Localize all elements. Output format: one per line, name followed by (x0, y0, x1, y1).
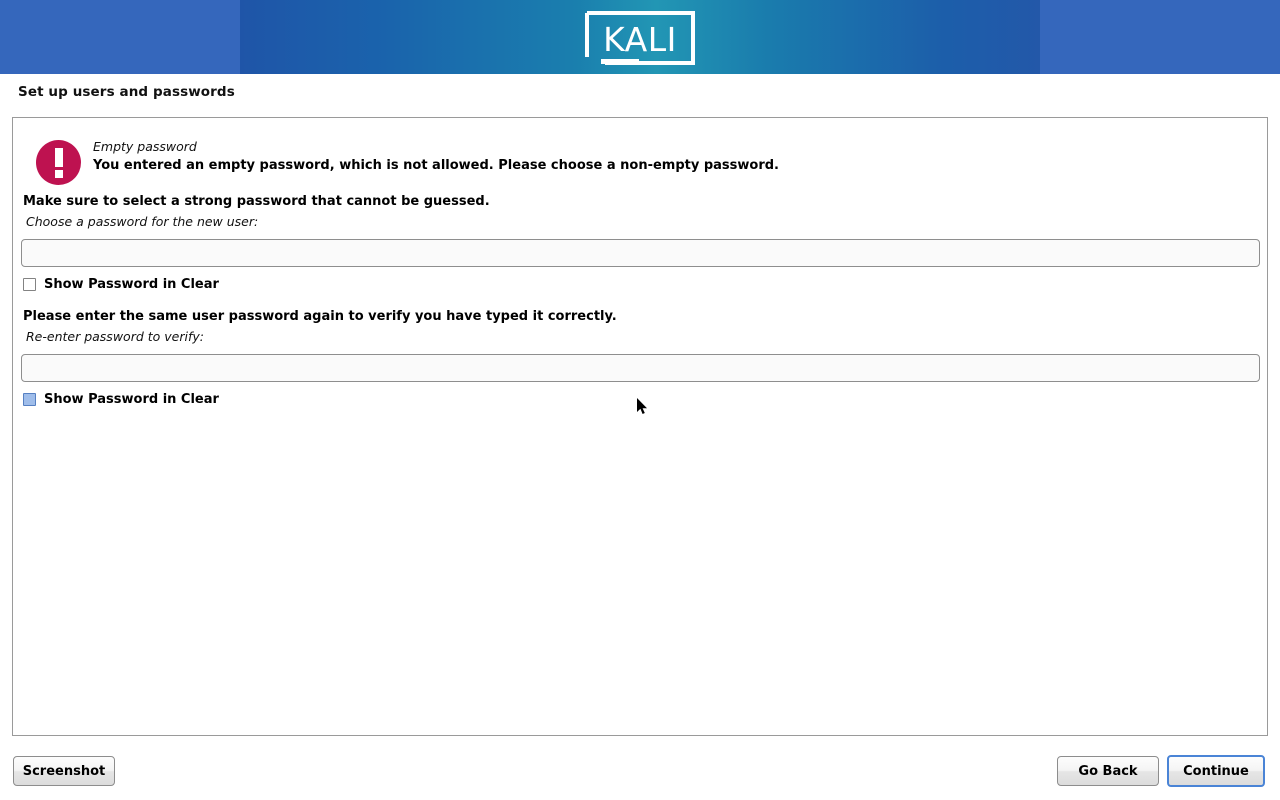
exclamation-dot (55, 170, 63, 178)
screenshot-button[interactable]: Screenshot (13, 756, 115, 786)
error-title: Empty password (93, 139, 197, 154)
kali-logo: KALI (583, 9, 697, 67)
checkbox-box[interactable] (23, 393, 36, 406)
show-password-in-clear-checkbox-1[interactable]: Show Password in Clear (23, 277, 219, 292)
go-back-button[interactable]: Go Back (1057, 756, 1159, 786)
error-message: You entered an empty password, which is … (93, 158, 779, 173)
installer-main-panel: Empty password You entered an empty pass… (12, 117, 1268, 736)
verify-section-heading: Please enter the same user password agai… (23, 309, 617, 324)
kali-banner: KALI (0, 0, 1280, 74)
password-section-heading: Make sure to select a strong password th… (23, 194, 490, 209)
error-notice: Empty password You entered an empty pass… (24, 130, 1254, 190)
password-input[interactable] (21, 239, 1260, 267)
error-exclamation-icon (36, 140, 81, 185)
checkbox-box[interactable] (23, 278, 36, 291)
password-field-label: Choose a password for the new user: (26, 214, 258, 229)
svg-text:KALI: KALI (603, 20, 677, 59)
verify-field-label: Re-enter password to verify: (26, 329, 204, 344)
checkbox-label: Show Password in Clear (44, 392, 219, 407)
show-password-in-clear-checkbox-2[interactable]: Show Password in Clear (23, 392, 219, 407)
verify-password-input[interactable] (21, 354, 1260, 382)
exclamation-stem (55, 148, 63, 167)
page-title: Set up users and passwords (18, 84, 235, 100)
continue-button[interactable]: Continue (1167, 755, 1265, 787)
checkbox-label: Show Password in Clear (44, 277, 219, 292)
